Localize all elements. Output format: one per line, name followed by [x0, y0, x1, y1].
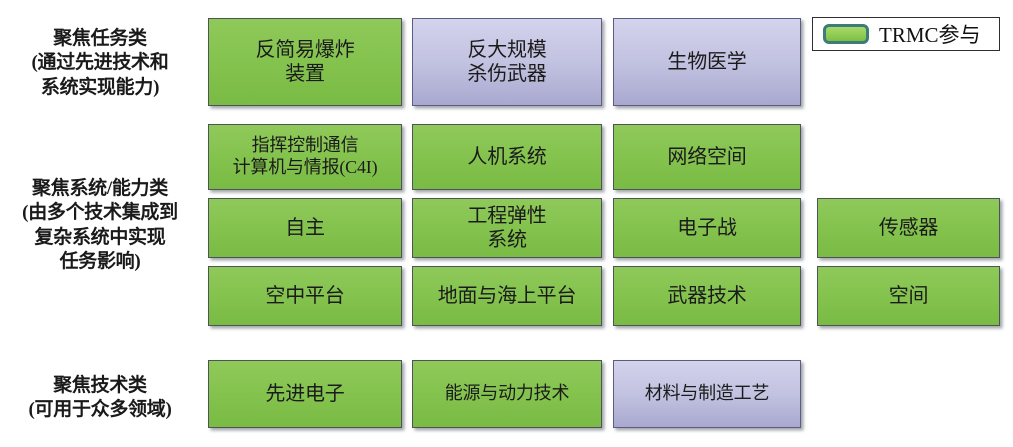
- row-label-mission-line-3: 系统实现能力): [0, 76, 200, 100]
- box-materials-manufacturing[interactable]: 材料与制造工艺: [613, 360, 801, 428]
- box-biomedical-line-1: 生物医学: [667, 50, 746, 74]
- row-label-mission: 聚焦任务类 (通过先进技术和 系统实现能力): [0, 27, 200, 100]
- box-advanced-electronics[interactable]: 先进电子: [208, 360, 402, 428]
- row-label-mission-line-2: (通过先进技术和: [0, 51, 200, 75]
- box-electronic-warfare-line-1: 电子战: [677, 216, 736, 240]
- box-counter-ied-line-1: 反简易爆炸: [256, 38, 355, 62]
- box-space[interactable]: 空间: [817, 266, 1000, 326]
- row-label-technology-line-1: 聚焦技术类: [0, 374, 200, 398]
- row-label-technology-line-2: (可用于众多领域): [0, 398, 200, 422]
- box-cyberspace-line-1: 网络空间: [667, 145, 746, 169]
- box-sensors[interactable]: 传感器: [817, 198, 1000, 258]
- row-label-technology: 聚焦技术类 (可用于众多领域): [0, 374, 200, 423]
- box-electronic-warfare[interactable]: 电子战: [613, 198, 801, 258]
- box-counter-wmd-line-2: 杀伤武器: [467, 62, 546, 86]
- box-c4i[interactable]: 指挥控制通信 计算机与情报(C4I): [208, 124, 402, 190]
- row-label-system-capability-line-4: 任务影响): [0, 250, 200, 274]
- box-counter-ied-line-2: 装置: [256, 62, 355, 86]
- box-ground-sea-platforms-line-1: 地面与海上平台: [438, 284, 577, 308]
- capability-taxonomy-diagram: TRMC参与 聚焦任务类 (通过先进技术和 系统实现能力) 反简易爆炸 装置 反…: [0, 0, 1013, 447]
- row-label-system-capability-line-3: 复杂系统中实现: [0, 226, 200, 250]
- box-sensors-line-1: 传感器: [879, 216, 938, 240]
- box-c4i-line-2: 计算机与情报(C4I): [233, 157, 378, 179]
- box-counter-wmd[interactable]: 反大规模 杀伤武器: [412, 18, 602, 106]
- box-weapons-technology-line-1: 武器技术: [667, 284, 746, 308]
- box-human-machine-systems[interactable]: 人机系统: [412, 124, 602, 190]
- box-advanced-electronics-line-1: 先进电子: [265, 382, 344, 406]
- row-label-system-capability-line-1: 聚焦系统/能力类: [0, 177, 200, 201]
- box-counter-ied[interactable]: 反简易爆炸 装置: [208, 18, 402, 106]
- box-energy-power-technology[interactable]: 能源与动力技术: [412, 360, 602, 428]
- box-engineered-resilient-systems[interactable]: 工程弹性 系统: [412, 198, 602, 258]
- box-human-machine-systems-line-1: 人机系统: [467, 145, 546, 169]
- row-label-mission-line-1: 聚焦任务类: [0, 27, 200, 51]
- box-materials-manufacturing-line-1: 材料与制造工艺: [645, 383, 770, 405]
- box-autonomy[interactable]: 自主: [208, 198, 402, 258]
- box-counter-wmd-line-1: 反大规模: [467, 38, 546, 62]
- box-air-platforms-line-1: 空中平台: [265, 284, 344, 308]
- box-autonomy-line-1: 自主: [285, 216, 325, 240]
- box-biomedical[interactable]: 生物医学: [613, 18, 801, 106]
- box-c4i-line-1: 指挥控制通信: [233, 135, 378, 157]
- box-energy-power-technology-line-1: 能源与动力技术: [445, 383, 570, 405]
- box-weapons-technology[interactable]: 武器技术: [613, 266, 801, 326]
- box-engineered-resilient-systems-line-1: 工程弹性: [467, 204, 546, 228]
- box-space-line-1: 空间: [889, 284, 929, 308]
- box-engineered-resilient-systems-line-2: 系统: [467, 228, 546, 252]
- box-air-platforms[interactable]: 空中平台: [208, 266, 402, 326]
- legend-label: TRMC参与: [879, 19, 981, 49]
- box-ground-sea-platforms[interactable]: 地面与海上平台: [412, 266, 602, 326]
- legend: TRMC参与: [812, 17, 1000, 51]
- trmc-green-swatch-icon: [823, 24, 869, 44]
- row-label-system-capability: 聚焦系统/能力类 (由多个技术集成到 复杂系统中实现 任务影响): [0, 177, 200, 274]
- box-cyberspace[interactable]: 网络空间: [613, 124, 801, 190]
- row-label-system-capability-line-2: (由多个技术集成到: [0, 201, 200, 225]
